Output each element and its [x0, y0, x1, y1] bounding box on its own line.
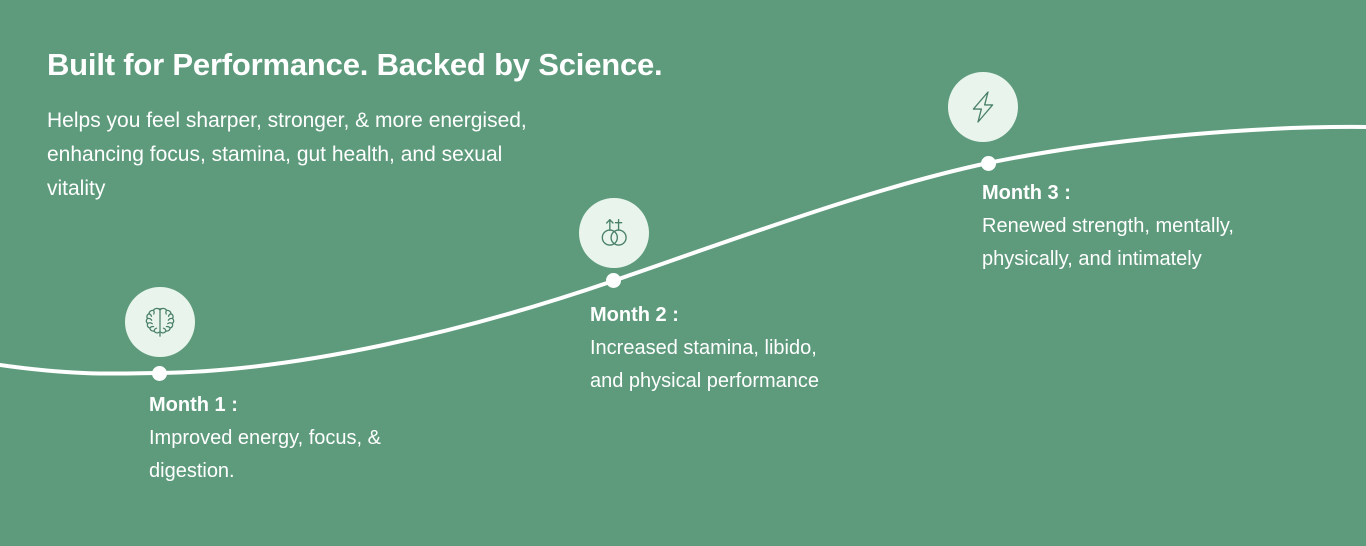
gender-symbols-icon [594, 213, 634, 253]
milestone-text: Month 2 : Increased stamina, libido, and… [590, 299, 840, 398]
lightning-bolt-icon [963, 87, 1003, 127]
milestone-label: Month 3 : [982, 177, 1282, 210]
milestone-label: Month 1 : [149, 389, 389, 422]
milestone-text: Month 1 : Improved energy, focus, & dige… [149, 389, 389, 488]
milestone-description: Increased stamina, libido, and physical … [590, 332, 840, 398]
milestone-text: Month 3 : Renewed strength, mentally, ph… [982, 177, 1282, 276]
lightning-bolt-icon-badge [948, 72, 1018, 142]
gender-symbols-icon-badge [579, 198, 649, 268]
milestone-dot [981, 156, 996, 171]
milestone-dot [152, 366, 167, 381]
milestone-description: Improved energy, focus, & digestion. [149, 422, 389, 488]
milestone-description: Renewed strength, mentally, physically, … [982, 210, 1282, 276]
milestone-dot [606, 273, 621, 288]
brain-icon [140, 302, 180, 342]
headline-block: Built for Performance. Backed by Science… [47, 44, 607, 206]
brain-icon-badge [125, 287, 195, 357]
milestone-label: Month 2 : [590, 299, 840, 332]
page-subtitle: Helps you feel sharper, stronger, & more… [47, 86, 547, 206]
page-title: Built for Performance. Backed by Science… [47, 44, 607, 86]
promo-banner: Built for Performance. Backed by Science… [0, 0, 1366, 546]
